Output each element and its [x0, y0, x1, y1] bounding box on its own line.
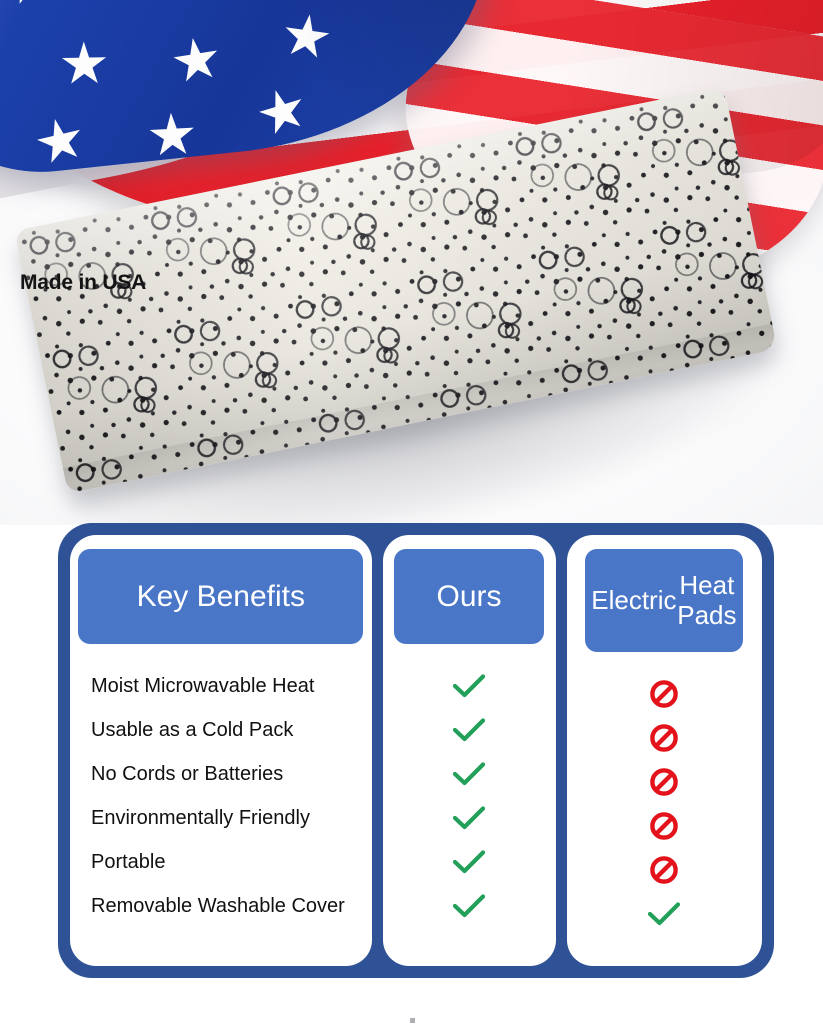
table-row: Removable Washable Cover [70, 884, 372, 928]
column-header-ours: Ours [394, 549, 544, 644]
table-cell-ours-2 [383, 752, 556, 796]
no-entry-icon [649, 679, 679, 709]
column-header-line-1: Electric [591, 586, 676, 615]
no-entry-icon [649, 811, 679, 841]
comparison-table: Key Benefits Moist Microwavable Heat Usa… [58, 523, 774, 978]
made-in-usa-caption: Made in USA [20, 271, 146, 295]
product-listing-image: Made in USA Key Benefits Moist Microwava… [0, 0, 823, 1033]
table-cell-electric-5 [567, 892, 763, 936]
no-entry-icon [649, 723, 679, 753]
table-cell-ours-0 [383, 664, 556, 708]
table-cell-electric-2 [567, 760, 763, 804]
column-header-key-benefits: Key Benefits [78, 549, 363, 644]
table-cell-electric-4 [567, 848, 763, 892]
table-cell-electric-1 [567, 716, 763, 760]
flag-star [114, 0, 162, 4]
flag-star [32, 114, 87, 169]
column-ours: Ours [383, 535, 556, 966]
ours-value-list [383, 664, 556, 928]
flag-star [281, 11, 333, 63]
column-electric-heat-pads: Electric Heat Pads [567, 535, 763, 966]
benefit-label-list: Moist Microwavable Heat Usable as a Cold… [70, 664, 372, 928]
table-row: Usable as a Cold Pack [70, 708, 372, 752]
check-icon [647, 901, 681, 927]
column-key-benefits: Key Benefits Moist Microwavable Heat Usa… [70, 535, 372, 966]
table-cell-ours-4 [383, 840, 556, 884]
table-row: No Cords or Batteries [70, 752, 372, 796]
flag-star [170, 34, 223, 87]
check-icon [452, 849, 486, 875]
table-cell-electric-0 [567, 672, 763, 716]
no-entry-icon [649, 855, 679, 885]
check-icon [452, 805, 486, 831]
check-icon [452, 673, 486, 699]
column-header-line-2: Heat Pads [677, 571, 738, 629]
table-cell-electric-3 [567, 804, 763, 848]
flag-star [253, 83, 310, 140]
table-cell-ours-1 [383, 708, 556, 752]
column-header-electric-heat-pads: Electric Heat Pads [585, 549, 743, 652]
electric-value-list [567, 672, 763, 936]
product-photo: Made in USA [0, 0, 823, 525]
table-cell-ours-5 [383, 884, 556, 928]
table-cell-ours-3 [383, 796, 556, 840]
no-entry-icon [649, 767, 679, 797]
check-icon [452, 717, 486, 743]
flag-star [221, 0, 276, 4]
table-row: Moist Microwavable Heat [70, 664, 372, 708]
table-row: Environmentally Friendly [70, 796, 372, 840]
check-icon [452, 893, 486, 919]
flag-star [61, 41, 108, 88]
table-row: Portable [70, 840, 372, 884]
flag-star [0, 0, 56, 10]
flag-star [148, 112, 196, 160]
check-icon [452, 761, 486, 787]
flag-star [0, 39, 3, 97]
page-artifact [410, 1018, 415, 1023]
